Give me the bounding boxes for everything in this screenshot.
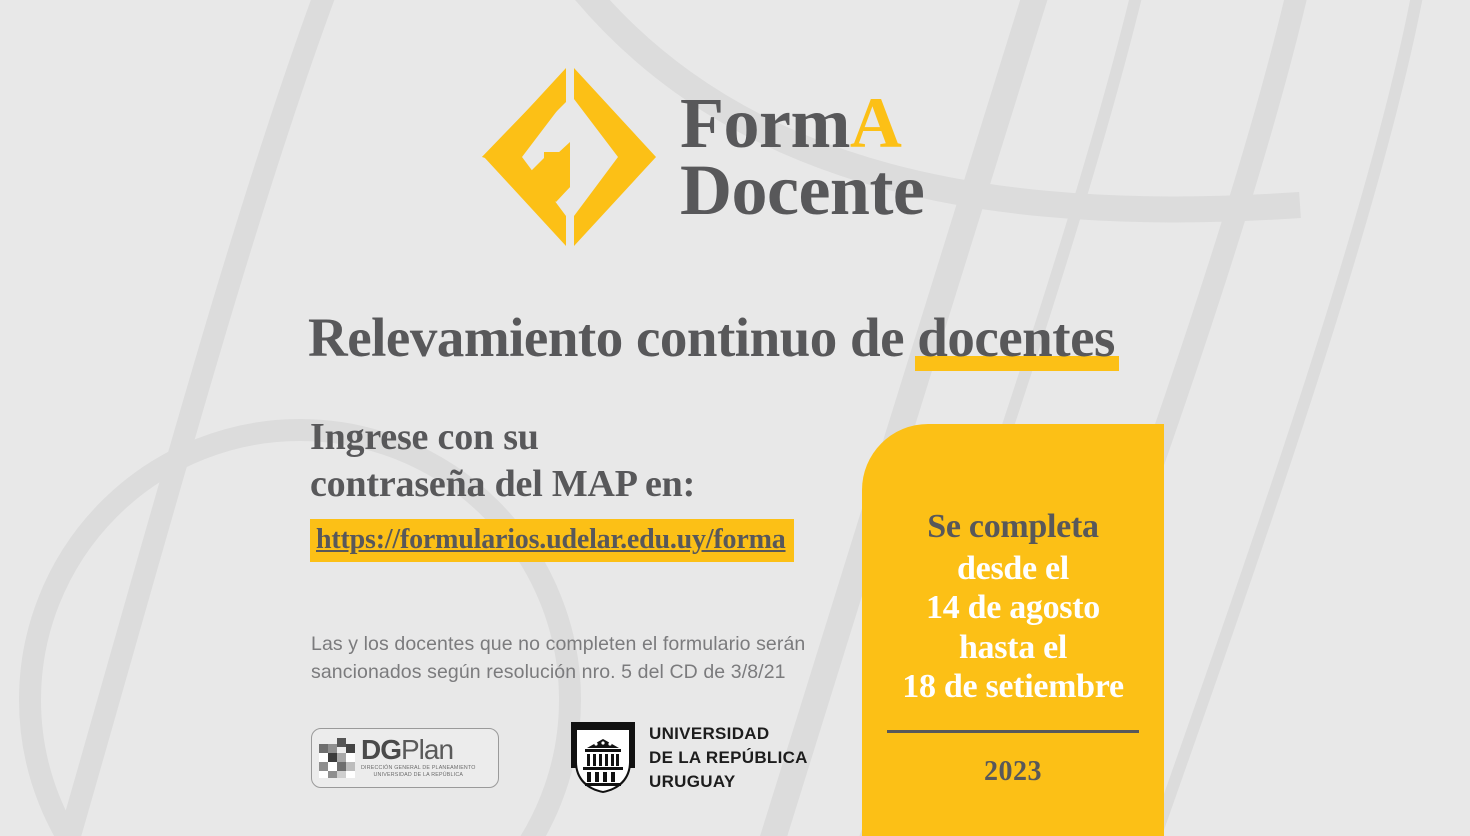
dgplan-logo: DGPlan DIRECCIÓN GENERAL DE PLANEAMIENTO… — [311, 728, 499, 788]
date-panel-heading: Se completa — [927, 508, 1098, 547]
date-panel-divider — [887, 730, 1139, 733]
udelar-text: UNIVERSIDAD DE LA REPÚBLICA URUGUAY — [649, 722, 808, 794]
udelar-line-3: URUGUAY — [649, 770, 808, 794]
dgplan-word-light: Plan — [401, 734, 453, 765]
brand-logo: FormA Docente — [478, 66, 924, 248]
date-to-value: 18 de setiembre — [902, 667, 1123, 706]
date-panel: Se completa desde el 14 de agosto hasta … — [862, 424, 1164, 836]
dgplan-word-bold: DG — [361, 734, 401, 765]
date-panel-dates: desde el 14 de agosto hasta el 18 de set… — [902, 549, 1123, 707]
udelar-line-1: UNIVERSIDAD — [649, 722, 808, 746]
date-from-label: desde el — [902, 549, 1123, 588]
footer-logos: DGPlan DIRECCIÓN GENERAL DE PLANEAMIENTO… — [311, 722, 808, 794]
dgplan-subtitle-line-2: UNIVERSIDAD DE LA REPÚBLICA — [361, 772, 476, 779]
headline-highlighted-word: docentes — [917, 306, 1115, 369]
dgplan-wordmark: DGPlan — [361, 737, 476, 764]
dgplan-squares-icon — [319, 738, 357, 778]
form-url-link[interactable]: https://formularios.udelar.edu.uy/forma — [310, 519, 794, 562]
brand-wordmark: FormA Docente — [680, 90, 924, 224]
udelar-line-2: DE LA REPÚBLICA — [649, 746, 808, 770]
fineprint-line-1: Las y los docentes que no completen el f… — [311, 631, 805, 659]
date-panel-year: 2023 — [984, 756, 1042, 788]
udelar-logo: UNIVERSIDAD DE LA REPÚBLICA URUGUAY — [571, 722, 808, 794]
instructions-block: Ingrese con su contraseña del MAP en: ht… — [310, 414, 794, 562]
instructions-line-2: contraseña del MAP en: — [310, 461, 794, 508]
headline-text: Relevamiento continuo de — [308, 307, 917, 368]
date-from-value: 14 de agosto — [902, 588, 1123, 627]
forma-diamond-f-icon — [478, 66, 670, 248]
instructions-line-1: Ingrese con su — [310, 414, 794, 461]
date-to-label: hasta el — [902, 628, 1123, 667]
poster-canvas: FormA Docente Relevamiento continuo de d… — [0, 0, 1470, 836]
fineprint-line-2: sancionados según resolución nro. 5 del … — [311, 659, 805, 687]
dgplan-text: DGPlan DIRECCIÓN GENERAL DE PLANEAMIENTO… — [361, 737, 476, 780]
page-title: Relevamiento continuo de docentes — [308, 306, 1115, 369]
udelar-shield-icon — [571, 722, 635, 794]
dgplan-subtitle: DIRECCIÓN GENERAL DE PLANEAMIENTO UNIVER… — [361, 765, 476, 779]
brand-name-second-line: Docente — [680, 157, 924, 224]
fineprint-block: Las y los docentes que no completen el f… — [311, 631, 805, 686]
